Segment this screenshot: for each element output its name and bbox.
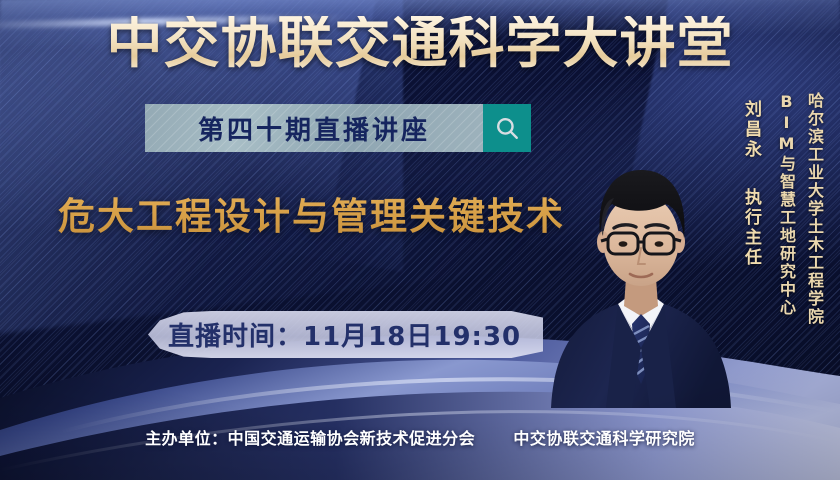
search-button[interactable] <box>483 104 531 152</box>
organizer-secondary: 中交协联交通科学研究院 <box>513 429 695 448</box>
speaker-name: 刘昌永 <box>739 100 764 160</box>
speaker-org-line1: 哈尔滨工业大学土木工程学院 <box>802 92 826 326</box>
search-icon <box>494 115 520 141</box>
live-time-text: 直播时间：11月18日19:30 <box>168 316 521 353</box>
episode-bar: 第四十期直播讲座 <box>145 104 531 152</box>
episode-label: 第四十期直播讲座 <box>198 110 430 147</box>
live-lecture-poster: 中交协联交通科学大讲堂 第四十期直播讲座 危大工程设计与管理关键技术 直播时间：… <box>0 0 840 480</box>
episode-label-box: 第四十期直播讲座 <box>145 104 483 152</box>
page-title: 中交协联交通科学大讲堂 <box>0 16 840 72</box>
speaker-role: 执行主任 <box>739 188 764 268</box>
speaker-org-line2: BIM与智慧工地研究中心 <box>774 92 798 317</box>
organizer-primary: 主办单位：中国交通运输协会新技术促进分会 <box>145 429 475 448</box>
organizer-footer: 主办单位：中国交通运输协会新技术促进分会 中交协联交通科学研究院 <box>0 425 840 449</box>
topic-title: 危大工程设计与管理关键技术 <box>58 186 565 240</box>
live-time-badge: 直播时间：11月18日19:30 <box>148 311 543 358</box>
speaker-portrait <box>546 108 736 408</box>
